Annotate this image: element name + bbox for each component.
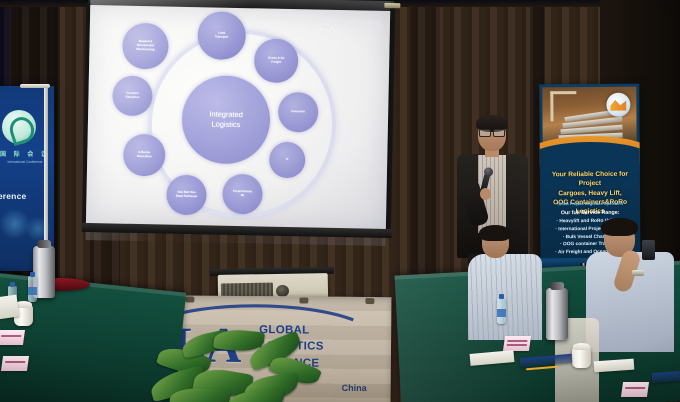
attendee-body xyxy=(468,254,542,340)
shirt-stripes xyxy=(468,254,542,340)
node-label-line2: Relocation xyxy=(137,154,152,158)
name-card-line xyxy=(625,387,645,389)
company-logo-icon xyxy=(606,93,630,117)
left-banner-cn-text: 国 际 会 议 xyxy=(0,149,50,158)
document-sheet xyxy=(0,295,19,320)
name-card xyxy=(503,336,531,351)
node-label-line2: Freight xyxy=(271,60,281,64)
name-card-line xyxy=(1,335,21,337)
glasses-icon xyxy=(479,129,505,135)
name-card-line xyxy=(5,361,25,363)
blue-folder xyxy=(652,371,680,383)
center-label-line1: Integrated xyxy=(209,109,242,119)
right-banner-subtitle: China Project Logistics Specialist xyxy=(544,201,636,207)
slide-title: Services xyxy=(321,15,383,33)
node-label-line2: Clearance xyxy=(125,95,139,99)
name-card xyxy=(621,382,649,397)
mobile-phone-icon xyxy=(642,240,655,260)
banner-location: China xyxy=(342,383,367,393)
crane-arm-icon xyxy=(550,91,576,94)
slide-content: Land Transport Ocean & Air Freight Insur… xyxy=(86,5,390,231)
node-bonded-warehousing: Bonded & Non-bonded Warehousing xyxy=(122,23,169,70)
attendee-on-phone xyxy=(588,222,680,357)
crane-mast-icon xyxy=(550,91,553,121)
bottle-label xyxy=(28,287,37,295)
left-banner-subtitle: International Conference xyxy=(0,160,50,164)
lidded-teacup xyxy=(572,348,591,368)
node-label-line2: Road Fullsteam xyxy=(176,194,198,198)
banner-clip xyxy=(365,298,374,304)
attendee-hair xyxy=(479,225,511,241)
bottle-label xyxy=(497,309,506,317)
headline-line2: Cargoes, Heavy Lift, xyxy=(558,189,621,196)
thermos-flask xyxy=(546,288,568,340)
name-card xyxy=(1,356,29,371)
service-range-title: Our full Service Range: xyxy=(544,210,636,217)
speaker-hand xyxy=(480,188,491,200)
potted-plant xyxy=(148,330,328,402)
wristwatch-icon xyxy=(632,270,644,276)
name-card-line xyxy=(507,340,527,342)
name-card xyxy=(0,330,25,345)
conference-logo-icon xyxy=(2,110,36,144)
node-customs-clearance: Customs Clearance xyxy=(112,75,153,116)
node-label-line2: Transport xyxy=(215,35,228,39)
water-bottle xyxy=(497,298,506,324)
node-one-belt-one-road: One Belt One Road Fullsteam xyxy=(166,175,207,216)
attendee-hair xyxy=(601,218,638,236)
water-bottle xyxy=(28,276,37,302)
headline-line1: Your Reliable Choice for Project xyxy=(552,171,628,188)
name-card-line xyxy=(507,344,527,346)
center-label-line2: Logistics xyxy=(211,119,240,129)
projection-screen: Land Transport Ocean & Air Freight Insur… xyxy=(86,0,391,246)
node-label-line3: Warehousing xyxy=(136,47,154,51)
conference-room-photo: 国 际 会 议 International Conference onferen… xyxy=(0,0,680,402)
node-label-line2: lift xyxy=(241,193,245,197)
node-label-line1: IT xyxy=(286,158,289,162)
node-label-line1: Insurance xyxy=(291,110,305,114)
banner-stand-arm xyxy=(20,84,50,88)
